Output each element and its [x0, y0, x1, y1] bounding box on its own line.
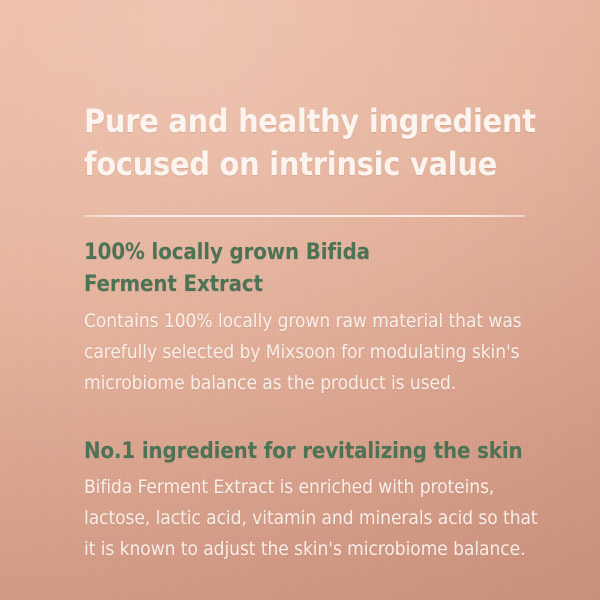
section-body-line-3: it is known to adjust the skin's microbi… — [84, 534, 554, 565]
section-heading-no1-ingredient: No.1 ingredient for revitalizing the ski… — [84, 436, 554, 468]
section-heading-line-1: 100% locally grown Bifida — [84, 237, 544, 269]
section-body-line-2: carefully selected by Mixsoon for modula… — [84, 337, 554, 368]
section-heading-line-1: No.1 ingredient for revitalizing the ski… — [84, 436, 554, 468]
product-info-panel: Pure and healthy ingredient focused on i… — [0, 0, 600, 600]
page-title: Pure and healthy ingredient focused on i… — [84, 100, 544, 186]
horizontal-divider — [84, 215, 525, 217]
section-body-line-2: lactose, lactic acid, vitamin and minera… — [84, 503, 554, 534]
page-title-line-1: Pure and healthy ingredient — [84, 100, 544, 143]
section-heading-line-2: Ferment Extract — [84, 269, 544, 301]
section-heading-bifida-ferment-extract: 100% locally grown Bifida Ferment Extrac… — [84, 237, 544, 301]
section-body-line-1: Bifida Ferment Extract is enriched with … — [84, 472, 554, 503]
page-title-line-2: focused on intrinsic value — [84, 143, 544, 186]
section-body-line-3: microbiome balance as the product is use… — [84, 368, 554, 399]
content-column: Pure and healthy ingredient focused on i… — [84, 0, 540, 600]
section-body-no1-ingredient: Bifida Ferment Extract is enriched with … — [84, 472, 554, 565]
section-body-bifida-ferment-extract: Contains 100% locally grown raw material… — [84, 306, 554, 399]
section-body-line-1: Contains 100% locally grown raw material… — [84, 306, 554, 337]
